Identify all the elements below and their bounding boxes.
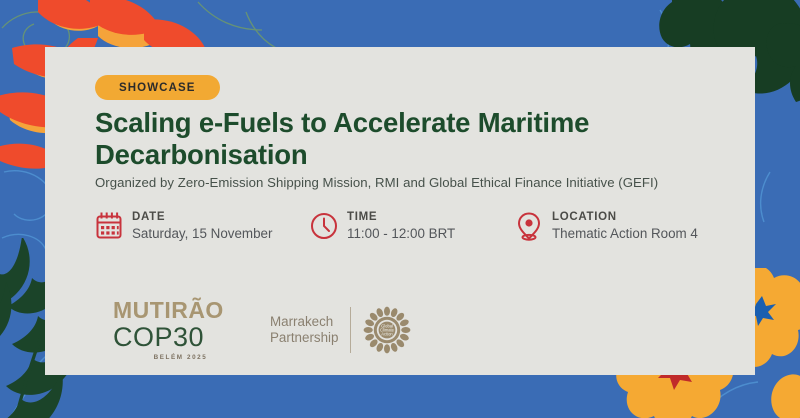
seal-line3: Action [382,332,394,337]
event-card: SHOWCASE Scaling e-Fuels to Accelerate M… [45,47,755,375]
detail-value-date: Saturday, 15 November [132,226,272,241]
event-poster: SHOWCASE Scaling e-Fuels to Accelerate M… [0,0,800,418]
cop30-logo: MUTIRÃO COP30 BELÉM 2025 [113,299,248,361]
clock-icon [310,211,338,241]
showcase-badge: SHOWCASE [95,75,220,100]
logo-divider [350,307,351,353]
detail-time: TIME 11:00 - 12:00 BRT [310,210,515,241]
logo-row: MUTIRÃO COP30 BELÉM 2025 Marrakech Partn… [113,299,411,361]
detail-value-location: Thematic Action Room 4 [552,226,698,241]
detail-label-location: LOCATION [552,211,698,223]
detail-label-time: TIME [347,211,455,223]
detail-label-date: DATE [132,211,272,223]
cop30-logo-cop30: COP30 [113,323,248,351]
event-details-row: DATE Saturday, 15 November TIME 11 [95,210,735,241]
calendar-icon [95,211,123,241]
global-climate-action-seal-icon: Global Climate Action [363,306,411,354]
cop30-logo-mutirao: MUTIRÃO [113,299,248,322]
marrakech-line2: Partnership [270,330,338,347]
detail-value-time: 11:00 - 12:00 BRT [347,226,455,241]
marrakech-partnership-logo: Marrakech Partnership [270,306,411,354]
detail-location: LOCATION Thematic Action Room 4 [515,210,735,241]
marrakech-line1: Marrakech [270,314,338,331]
organizer-text: Organized by Zero-Emission Shipping Miss… [95,175,658,190]
location-pin-icon [515,211,543,241]
cop30-logo-belem: BELÉM 2025 [113,354,248,361]
page-title: Scaling e-Fuels to Accelerate Maritime D… [95,107,705,171]
detail-date: DATE Saturday, 15 November [95,210,310,241]
